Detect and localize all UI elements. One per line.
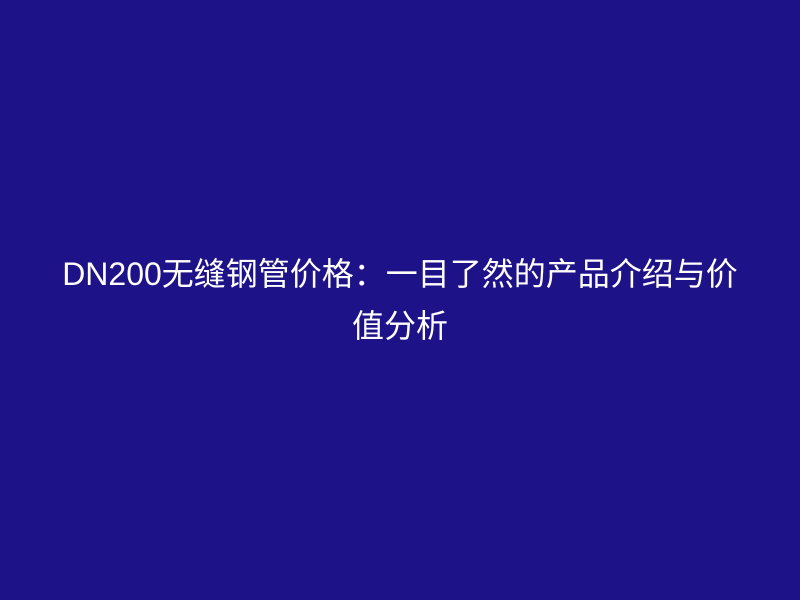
page-title: DN200无缝钢管价格：一目了然的产品介绍与价值分析 [50,248,750,352]
headline-block: DN200无缝钢管价格：一目了然的产品介绍与价值分析 [50,248,750,352]
title-card: DN200无缝钢管价格：一目了然的产品介绍与价值分析 [0,0,800,600]
